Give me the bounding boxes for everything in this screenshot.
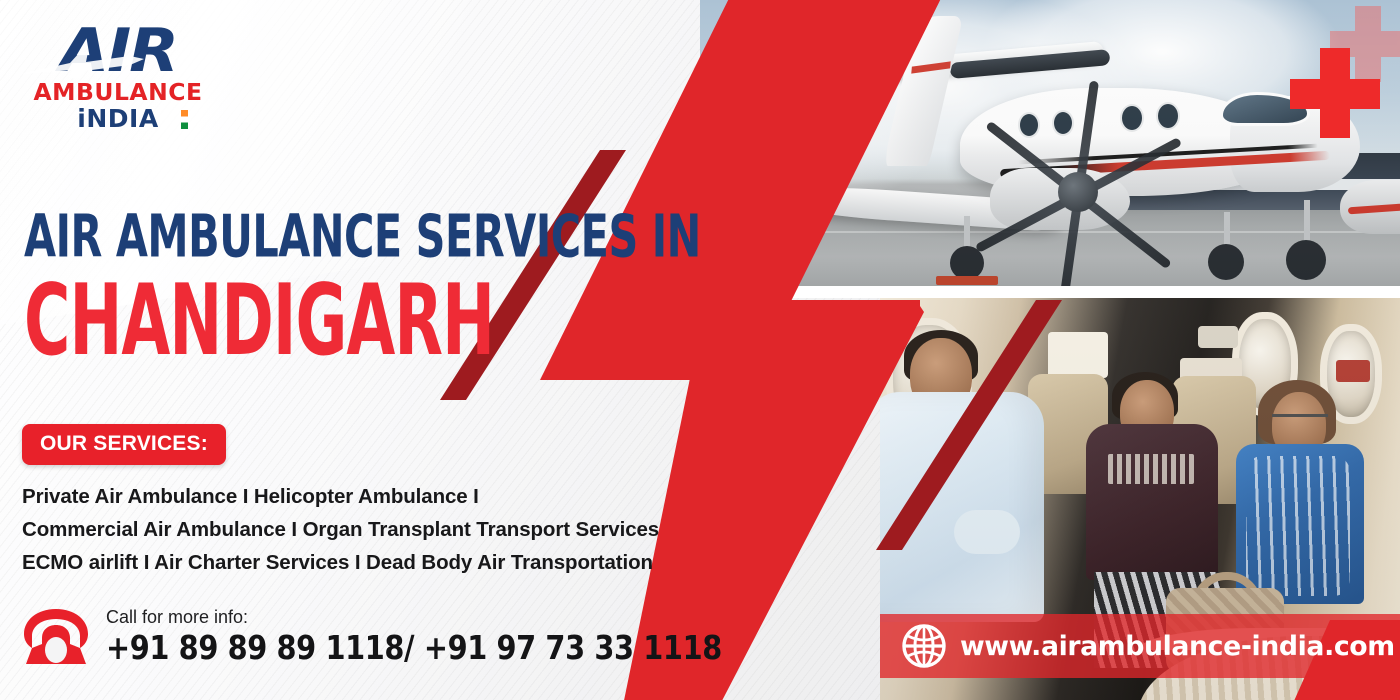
brand-logo[interactable]: AIR AMBULANCE iNDIA [30, 22, 206, 132]
nose-gear-strut [1304, 200, 1310, 244]
contact-text: Call for more info: +91 89 89 89 1118/ +… [106, 606, 741, 668]
main-landing-gear [1208, 244, 1244, 280]
website-bar[interactable]: www.airambulance-india.com [880, 614, 1400, 678]
nose-landing-gear [1286, 240, 1326, 280]
cabin-window [1156, 102, 1180, 130]
promotional-banner: AIR AMBULANCE iNDIA AIR AMBULANCE SERVIC… [0, 0, 1400, 700]
gloved-hands [954, 510, 1020, 554]
medical-cross-icon-front [1290, 48, 1380, 138]
medical-monitor [1336, 360, 1370, 382]
contact-phone-block[interactable]: Call for more info: +91 89 89 89 1118/ +… [20, 606, 741, 668]
telephone-icon [20, 606, 92, 668]
services-line: Private Air Ambulance I Helicopter Ambul… [22, 480, 802, 513]
headline-line-2: CHANDIGARH [24, 272, 600, 370]
services-line: ECMO airlift I Air Charter Services I De… [22, 546, 802, 579]
services-line: Commercial Air Ambulance I Organ Transpl… [22, 513, 802, 546]
india-flag-accent [181, 110, 188, 129]
passenger-shirt [1086, 424, 1218, 580]
passenger-scarf [1246, 456, 1350, 596]
wheel-chock [936, 276, 998, 285]
main-landing-gear [950, 246, 984, 280]
cabin-placard [1198, 326, 1238, 348]
cabin-window [1018, 112, 1040, 138]
services-badge: OUR SERVICES: [22, 424, 226, 465]
call-label: Call for more info: [106, 606, 741, 628]
eyeglasses [1272, 414, 1328, 428]
logo-air-text: AIR [23, 22, 213, 80]
logo-india-row: iNDIA [30, 106, 206, 132]
page-title: AIR AMBULANCE SERVICES IN CHANDIGARH [24, 206, 664, 350]
logo-india-text: iNDIA [77, 106, 158, 132]
cabin-placard [1048, 332, 1108, 378]
landing-gear-strut [964, 216, 970, 250]
logo-ambulance-text: AMBULANCE [28, 80, 208, 106]
headline-line-1: AIR AMBULANCE SERVICES IN [24, 206, 613, 267]
shirt-print [1108, 454, 1194, 484]
website-url[interactable]: www.airambulance-india.com [960, 631, 1395, 662]
cabin-window [1120, 104, 1144, 132]
propeller-spinner [1058, 172, 1098, 212]
globe-icon [902, 624, 946, 668]
photo-divider [700, 286, 1400, 298]
services-list: Private Air Ambulance I Helicopter Ambul… [22, 480, 802, 579]
landing-gear-strut [1224, 212, 1230, 248]
phone-numbers[interactable]: +91 89 89 89 1118/ +91 97 73 33 1118 [106, 628, 722, 668]
cabin-window [1052, 110, 1074, 136]
